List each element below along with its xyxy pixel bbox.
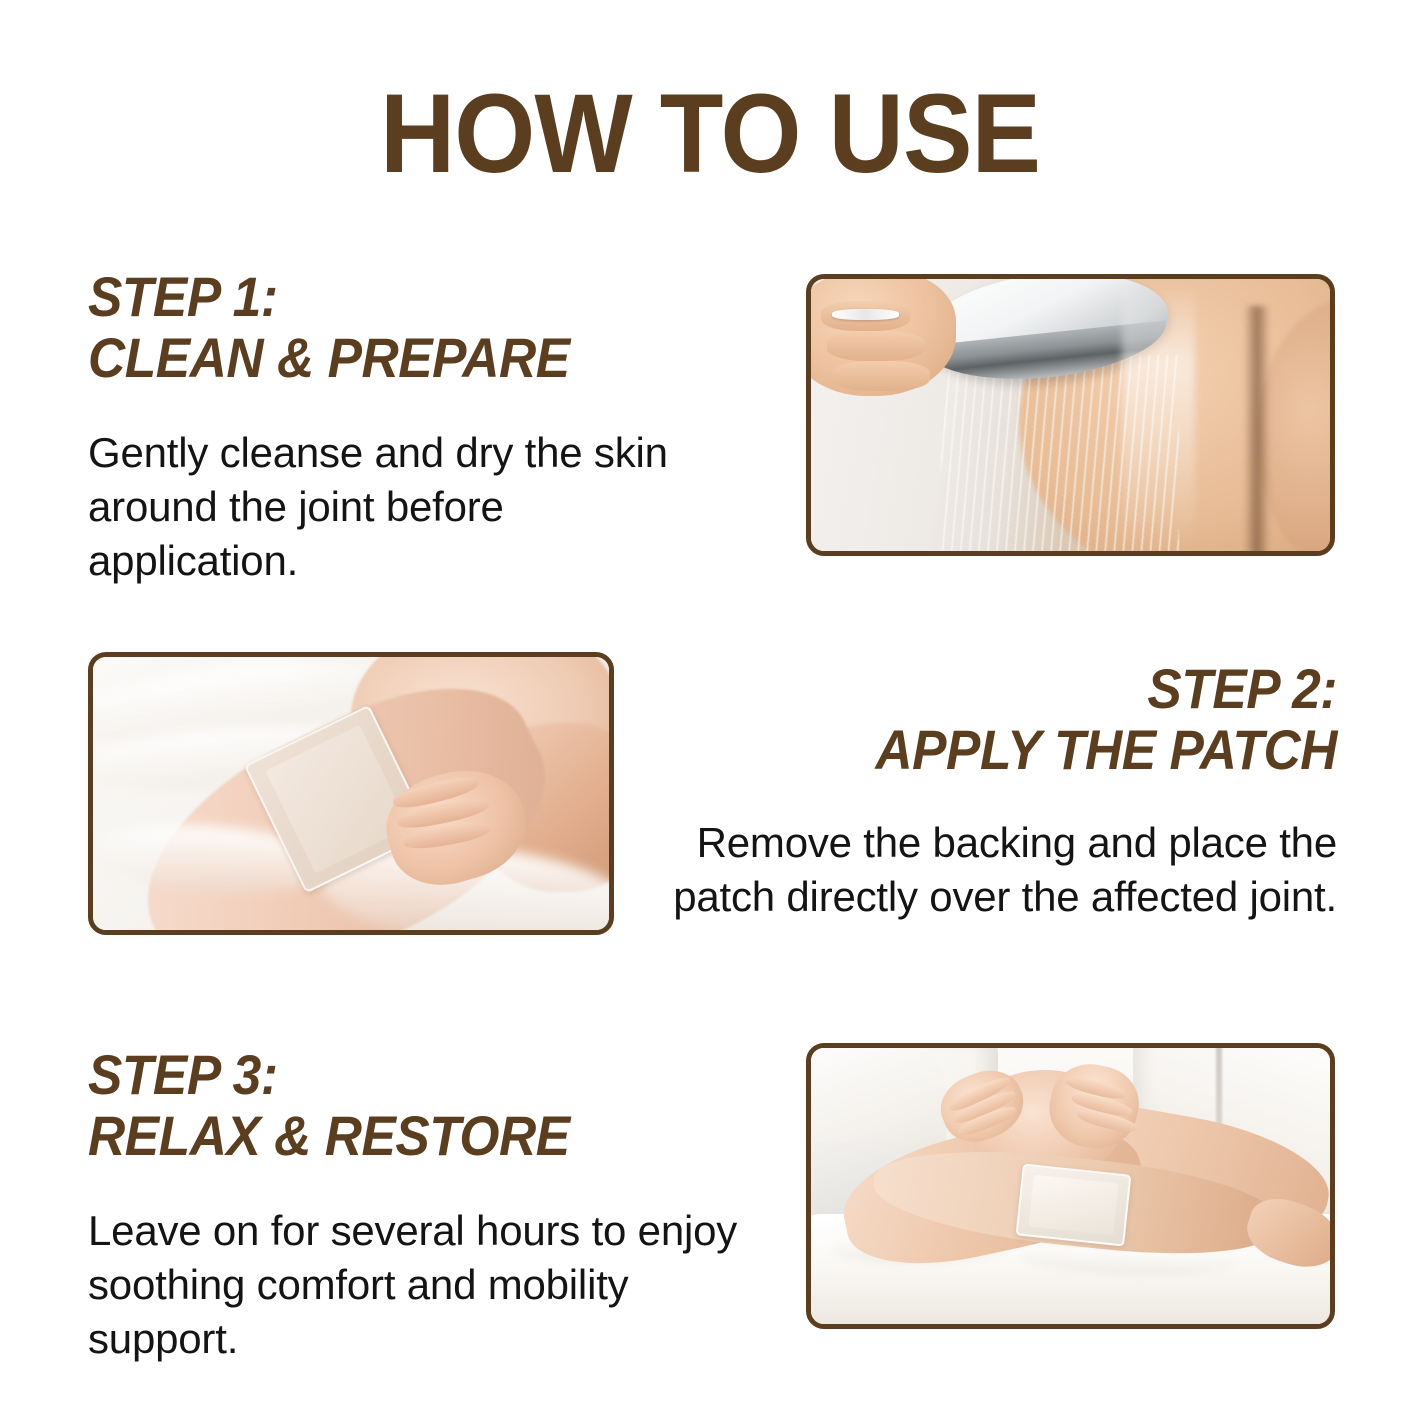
step-1-image <box>806 274 1335 556</box>
finger-shape <box>827 331 926 361</box>
leg-shadow <box>1244 306 1270 551</box>
step-2-image <box>88 652 614 935</box>
patch-inner-pad <box>266 725 410 873</box>
step-3-image <box>806 1043 1335 1329</box>
step-1-heading: STEP 1: CLEAN & PREPARE <box>88 268 677 386</box>
step-1-image-scene <box>811 279 1330 551</box>
patch-inner-pad <box>1029 1175 1118 1235</box>
step-2-image-scene <box>93 657 609 930</box>
step-1-name-label: CLEAN & PREPARE <box>88 329 677 386</box>
step-2-heading: STEP 2: APPLY THE PATCH <box>693 660 1337 778</box>
step-3-name-label: RELAX & RESTORE <box>88 1107 695 1164</box>
ring-shape <box>832 309 899 320</box>
skin-highlight <box>1122 284 1195 545</box>
step-1-body: Gently cleanse and dry the skin around t… <box>88 426 688 587</box>
step-3-heading: STEP 3: RELAX & RESTORE <box>88 1046 695 1164</box>
step-2-body: Remove the backing and place the patch d… <box>637 816 1337 924</box>
step-3-body: Leave on for several hours to enjoy soot… <box>88 1204 748 1365</box>
finger-shape <box>832 361 931 391</box>
step-2-name-label: APPLY THE PATCH <box>693 721 1337 778</box>
page-title: HOW TO USE <box>50 78 1371 190</box>
step-3-image-scene <box>811 1048 1330 1324</box>
step-3-text-block: STEP 3: RELAX & RESTORE Leave on for sev… <box>88 1046 748 1365</box>
step-3-number-label: STEP 3: <box>88 1046 695 1103</box>
step-1-number-label: STEP 1: <box>88 268 677 325</box>
how-to-use-infographic: HOW TO USE STEP 1: CLEAN & PREPARE Gentl… <box>0 0 1420 1420</box>
patch-graphic <box>1015 1164 1131 1247</box>
step-2-number-label: STEP 2: <box>693 660 1337 717</box>
step-1-text-block: STEP 1: CLEAN & PREPARE Gently cleanse a… <box>88 268 728 587</box>
step-2-text-block: STEP 2: APPLY THE PATCH Remove the backi… <box>637 660 1337 924</box>
